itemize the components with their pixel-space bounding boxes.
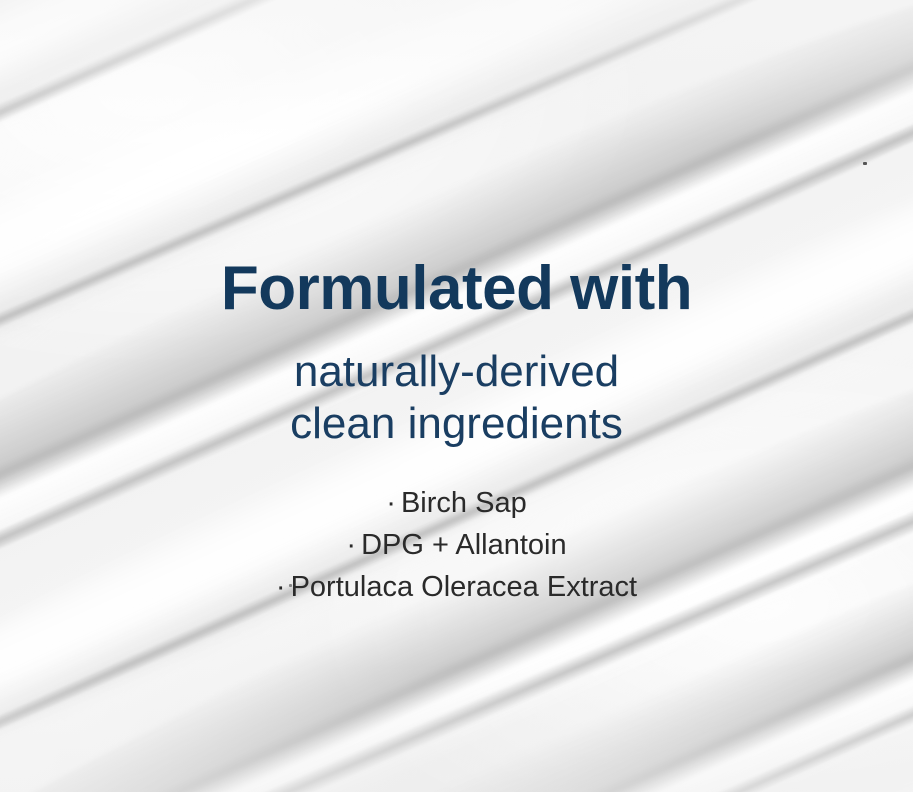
subtitle-line-1: naturally-derived: [0, 346, 913, 398]
product-ingredient-slide: Formulated with naturally-derived clean …: [0, 0, 913, 792]
list-item: ·Birch Sap: [0, 483, 913, 525]
list-item: ·DPG + Allantoin: [0, 525, 913, 567]
ingredient-list: ·Birch Sap ·DPG + Allantoin ·Portulaca O…: [0, 483, 913, 608]
list-item-label: DPG + Allantoin: [361, 529, 567, 561]
subtitle: naturally-derived clean ingredients: [0, 346, 913, 450]
bullet-dot: ·: [386, 487, 396, 519]
list-item-label: Birch Sap: [401, 487, 527, 519]
subtitle-line-2: clean ingredients: [0, 398, 913, 450]
dust-speck: [863, 162, 867, 165]
list-item-label: Portulaca Oleracea Extract: [291, 571, 638, 603]
bullet-dot: ·: [276, 571, 286, 603]
page-title: Formulated with: [0, 256, 913, 323]
bullet-dot: ·: [346, 529, 356, 561]
list-item: ·Portulaca Oleracea Extract: [0, 567, 913, 609]
